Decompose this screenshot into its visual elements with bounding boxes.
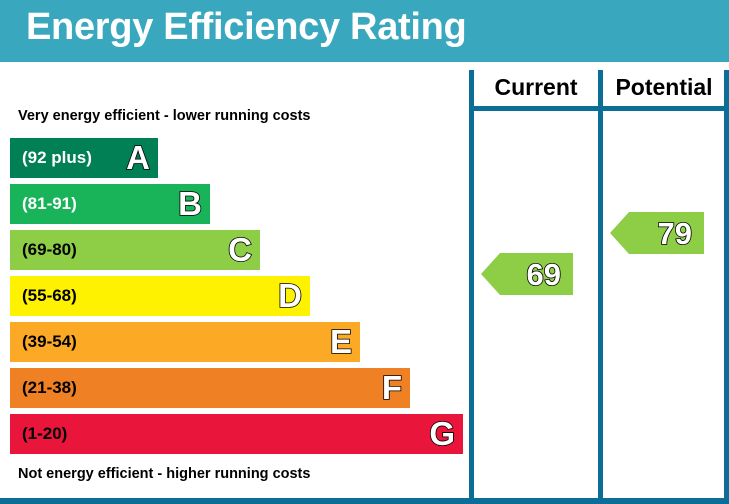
- current-rating-arrow: 69: [481, 253, 573, 295]
- caption-not-efficient: Not energy efficient - higher running co…: [18, 466, 310, 482]
- band-letter-e: E: [330, 325, 352, 358]
- energy-efficiency-rating-chart: Energy Efficiency Rating Current Potenti…: [0, 0, 729, 504]
- divider-right: [724, 70, 729, 498]
- potential-header-rule: [599, 106, 729, 111]
- band-row-a: (92 plus) A: [10, 138, 158, 178]
- band-letter-f: F: [382, 371, 402, 404]
- current-rating-value: 69: [527, 259, 561, 290]
- page-title: Energy Efficiency Rating: [26, 6, 466, 49]
- bottom-frame-rule: [0, 498, 729, 504]
- band-range-d: (55-68): [22, 286, 77, 306]
- current-header-rule: [469, 106, 598, 111]
- band-letter-g: G: [429, 417, 455, 450]
- band-row-b: (81-91) B: [10, 184, 210, 224]
- band-row-f: (21-38) F: [10, 368, 410, 408]
- band-letter-a: A: [126, 141, 150, 174]
- potential-rating-arrow: 79: [610, 212, 704, 254]
- divider-middle: [598, 70, 603, 498]
- band-range-b: (81-91): [22, 194, 77, 214]
- band-letter-c: C: [228, 233, 252, 266]
- column-header-potential: Potential: [604, 74, 724, 101]
- band-letter-d: D: [278, 279, 302, 312]
- band-row-c: (69-80) C: [10, 230, 260, 270]
- band-range-g: (1-20): [22, 424, 67, 444]
- caption-very-efficient: Very energy efficient - lower running co…: [18, 108, 311, 124]
- band-row-d: (55-68) D: [10, 276, 310, 316]
- band-row-g: (1-20) G: [10, 414, 463, 454]
- potential-rating-value: 79: [658, 218, 692, 249]
- band-row-e: (39-54) E: [10, 322, 360, 362]
- divider-left: [469, 70, 474, 498]
- chart-title-bar: Energy Efficiency Rating: [0, 0, 729, 62]
- band-range-f: (21-38): [22, 378, 77, 398]
- band-letter-b: B: [178, 187, 202, 220]
- column-header-current: Current: [474, 74, 598, 101]
- band-range-a: (92 plus): [22, 148, 92, 168]
- band-range-c: (69-80): [22, 240, 77, 260]
- band-range-e: (39-54): [22, 332, 77, 352]
